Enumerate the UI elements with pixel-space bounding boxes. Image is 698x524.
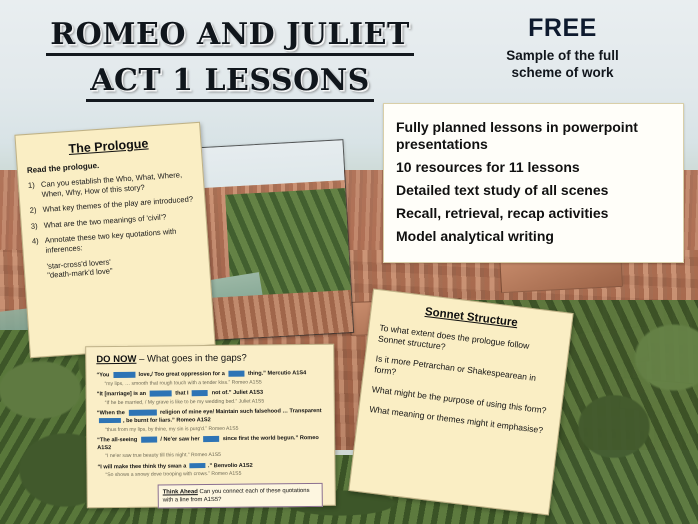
question-text: Can you establish the Who, What, Where, …: [41, 169, 195, 199]
quote-part: thing.”: [246, 371, 267, 377]
think-ahead-box: Think Ahead Can you connect each of thes…: [158, 483, 323, 509]
quote-speaker: Mercutio A1S4: [268, 370, 307, 376]
question-text: Annotate these two key quotations with i…: [45, 226, 199, 256]
gap-quotation-sub: “If he be married, / My grave is like to…: [105, 398, 326, 407]
do-now-heading: DO NOW – What goes in the gaps?: [96, 352, 325, 365]
free-subtitle-line-2: scheme of work: [455, 64, 670, 81]
gap-blank: [203, 436, 219, 442]
gap-quotation-sub: “thus from my lips, by thine, my sin is …: [105, 424, 326, 433]
gap-blank: [113, 372, 135, 378]
question-number: 1): [28, 180, 42, 200]
gap-blank: [228, 371, 244, 377]
sonnet-structure-card: Sonnet Structure To what extent does the…: [348, 288, 573, 515]
gap-quotation-sub: “I ne'er saw true beauty till this night…: [105, 451, 326, 460]
do-now-card: DO NOW – What goes in the gaps? “You lov…: [85, 344, 336, 509]
title-line-2: Act 1 Lessons: [86, 64, 374, 102]
quote-part: “I will make thee think thy swan a: [97, 463, 188, 470]
do-now-heading-bold: DO NOW: [96, 354, 136, 365]
gap-blank: [141, 437, 157, 443]
quote-part: “You: [96, 372, 111, 378]
free-subtitle-line-1: Sample of the full: [455, 47, 670, 64]
prologue-card: The Prologue Read the prologue. 1) Can y…: [14, 122, 215, 358]
feature-item: Fully planned lessons in powerpoint pres…: [396, 119, 671, 153]
gap-blank: [192, 390, 208, 396]
quote-part: “It [marriage] is an: [97, 391, 148, 398]
free-badge: FREE Sample of the full scheme of work: [455, 14, 670, 81]
quote-part: religion of mine eye/ Maintain such fals…: [158, 408, 321, 416]
features-card: Fully planned lessons in powerpoint pres…: [383, 103, 684, 263]
gap-blank: [128, 410, 156, 416]
feature-item: Detailed text study of all scenes: [396, 182, 671, 199]
free-label: FREE: [455, 14, 670, 43]
title-line-1: Romeo and Juliet: [46, 18, 414, 56]
slide-canvas: Romeo and Juliet Act 1 Lessons FREE Samp…: [0, 0, 698, 524]
feature-item: Model analytical writing: [396, 228, 671, 245]
question-number: 4): [32, 236, 46, 256]
quote-part: , be burnt for liars.”: [123, 418, 177, 425]
gap-blank: [190, 463, 206, 469]
question-number: 2): [29, 205, 43, 215]
do-now-heading-rest: – What goes in the gaps?: [136, 353, 246, 365]
feature-item: 10 resources for 11 lessons: [396, 159, 671, 176]
quote-speaker: Juliet A1S3: [233, 390, 263, 396]
feature-item: Recall, retrieval, recap activities: [396, 205, 671, 222]
quote-part: “The all-seeing: [97, 437, 139, 443]
think-ahead-label: Think Ahead: [163, 489, 198, 495]
quote-speaker: Benvolio A1S2: [214, 462, 253, 468]
gap-quotation-sub: “my lips, … smooth that rough touch with…: [105, 378, 326, 387]
quote-part: since first the world begun.”: [221, 435, 300, 442]
quote-part: / Ne'er saw her: [159, 436, 201, 442]
gap-blank: [150, 391, 172, 397]
quote-part: love,/ Too great oppression for a: [137, 371, 226, 378]
gap-blank: [99, 418, 121, 424]
question-number: 3): [31, 221, 45, 231]
gap-quotation-sub: “So shows a snowy dove trooping with cro…: [105, 470, 326, 479]
quote-part: not of.”: [210, 390, 233, 396]
gap-quotation: “When the religion of mine eye/ Maintain…: [97, 408, 326, 426]
quote-part: “When the: [97, 410, 127, 416]
quote-part: that I: [174, 391, 191, 397]
slide-title: Romeo and Juliet Act 1 Lessons: [30, 18, 430, 102]
quote-speaker: Romeo A1S2: [176, 417, 210, 423]
gap-quotation: “The all-seeing / Ne'er saw her since fi…: [97, 435, 326, 452]
